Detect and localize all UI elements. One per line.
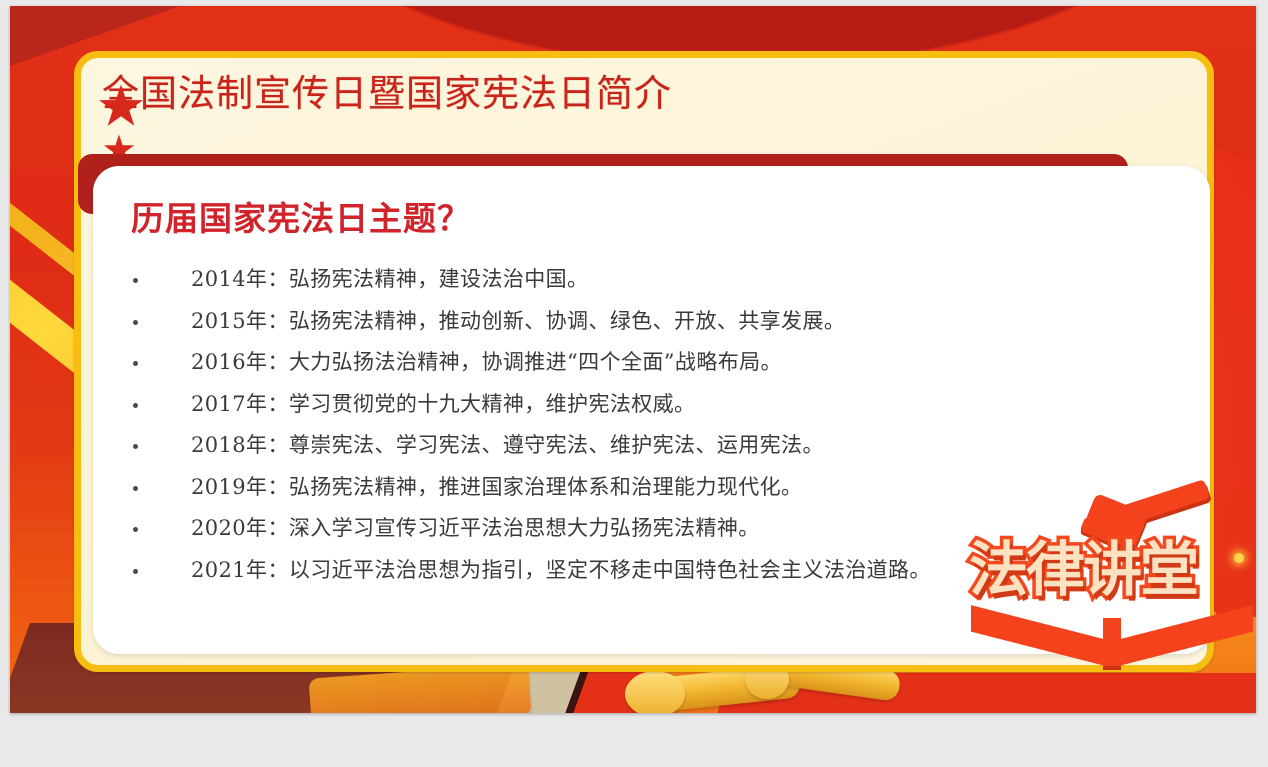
list-item: 2014年：弘扬宪法精神，建设法治中国。: [123, 264, 1143, 295]
card-heading: 历届国家宪法日主题？: [131, 192, 471, 240]
book-right-page: [1113, 588, 1253, 666]
book-left-page: [971, 588, 1111, 666]
list-item: 2017年：学习贯彻党的十九大精神，维护宪法权威。: [123, 389, 1143, 420]
law-lecture-logo: 法律讲堂: [961, 484, 1256, 669]
presentation-slide: 全国法制宣传日暨国家宪法日简介 历届国家宪法日主题？ 2014年：弘扬宪法精神，…: [10, 6, 1256, 713]
slide-title: 全国法制宣传日暨国家宪法日简介: [102, 63, 672, 117]
content-card: 历届国家宪法日主题？ 2014年：弘扬宪法精神，建设法治中国。 2015年：弘扬…: [93, 166, 1210, 654]
slide-viewport: 全国法制宣传日暨国家宪法日简介 历届国家宪法日主题？ 2014年：弘扬宪法精神，…: [0, 0, 1268, 767]
list-item: 2015年：弘扬宪法精神，推动创新、协调、绿色、开放、共享发展。: [123, 306, 1143, 337]
open-book-icon: [971, 588, 1253, 666]
list-item: 2016年：大力弘扬法治精神，协调推进“四个全面”战略布局。: [123, 347, 1143, 378]
list-item: 2018年：尊崇宪法、学习宪法、遵守宪法、维护宪法、运用宪法。: [123, 430, 1143, 461]
gold-gavel-head-1: [625, 671, 685, 713]
book-spine: [1103, 618, 1121, 666]
